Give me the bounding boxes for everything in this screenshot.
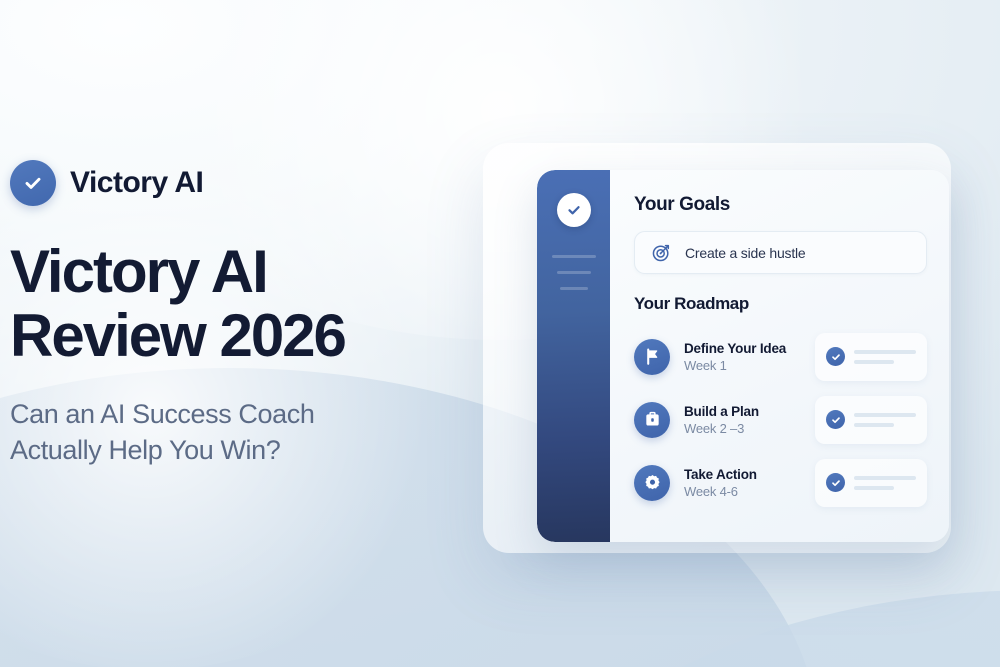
task-placeholder-line <box>854 413 916 417</box>
target-arrow-icon <box>651 242 672 263</box>
gear-icon <box>634 465 670 501</box>
check-circle-icon <box>826 473 845 492</box>
wave-shape-right <box>520 590 1000 667</box>
task-placeholder-line <box>854 350 916 354</box>
sidebar-nav-placeholder <box>560 287 588 290</box>
goals-heading: Your Goals <box>634 194 949 216</box>
brand-name: Victory AI <box>70 166 203 200</box>
roadmap-step-list: Define Your Idea Week 1 <box>634 325 949 514</box>
roadmap-step-row[interactable]: Build a Plan Week 2 –3 <box>634 388 949 451</box>
check-circle-icon <box>826 347 845 366</box>
task-placeholder-line <box>854 476 916 480</box>
sidebar-nav-placeholders <box>537 255 610 290</box>
goal-input-value: Create a side hustle <box>685 245 806 261</box>
roadmap-step-week: Week 4-6 <box>684 484 815 499</box>
goal-input[interactable]: Create a side hustle <box>634 231 927 274</box>
headline-line-2: Review 2026 <box>10 302 345 369</box>
roadmap-step-row[interactable]: Define Your Idea Week 1 <box>634 325 949 388</box>
subtitle-line-2: Actually Help You Win? <box>10 435 280 465</box>
check-circle-icon <box>826 410 845 429</box>
headline-line-1: Victory AI <box>10 238 267 305</box>
task-card[interactable] <box>815 396 927 444</box>
roadmap-step-week: Week 1 <box>684 358 815 373</box>
task-placeholder-line <box>854 423 894 427</box>
hero-text-column: Victory AI Victory AI Review 2026 Can an… <box>10 160 440 469</box>
task-placeholder-lines <box>854 413 916 427</box>
roadmap-step-week: Week 2 –3 <box>684 421 815 436</box>
sidebar-nav-placeholder <box>557 271 591 274</box>
roadmap-step-text: Take Action Week 4-6 <box>684 467 815 499</box>
check-circle-icon <box>10 160 56 206</box>
flag-icon <box>634 339 670 375</box>
roadmap-step-name: Build a Plan <box>684 404 815 419</box>
check-circle-icon <box>557 193 591 227</box>
sidebar-nav-placeholder <box>552 255 596 258</box>
roadmap-step-name: Define Your Idea <box>684 341 815 356</box>
task-placeholder-line <box>854 486 894 490</box>
briefcase-icon <box>634 402 670 438</box>
subtitle-line-1: Can an AI Success Coach <box>10 399 314 429</box>
roadmap-step-text: Build a Plan Week 2 –3 <box>684 404 815 436</box>
task-card[interactable] <box>815 333 927 381</box>
task-placeholder-lines <box>854 350 916 364</box>
task-card[interactable] <box>815 459 927 507</box>
page-title: Victory AI Review 2026 <box>10 240 440 367</box>
app-mockup-card: Your Goals Create a side hustle Your Roa… <box>537 170 949 542</box>
app-content: Your Goals Create a side hustle Your Roa… <box>610 170 949 542</box>
page-subtitle: Can an AI Success Coach Actually Help Yo… <box>10 397 440 469</box>
brand-lockup: Victory AI <box>10 160 440 206</box>
roadmap-step-name: Take Action <box>684 467 815 482</box>
roadmap-step-text: Define Your Idea Week 1 <box>684 341 815 373</box>
app-sidebar[interactable] <box>537 170 610 542</box>
task-placeholder-lines <box>854 476 916 490</box>
roadmap-heading: Your Roadmap <box>634 294 949 314</box>
roadmap-step-row[interactable]: Take Action Week 4-6 <box>634 451 949 514</box>
task-placeholder-line <box>854 360 894 364</box>
